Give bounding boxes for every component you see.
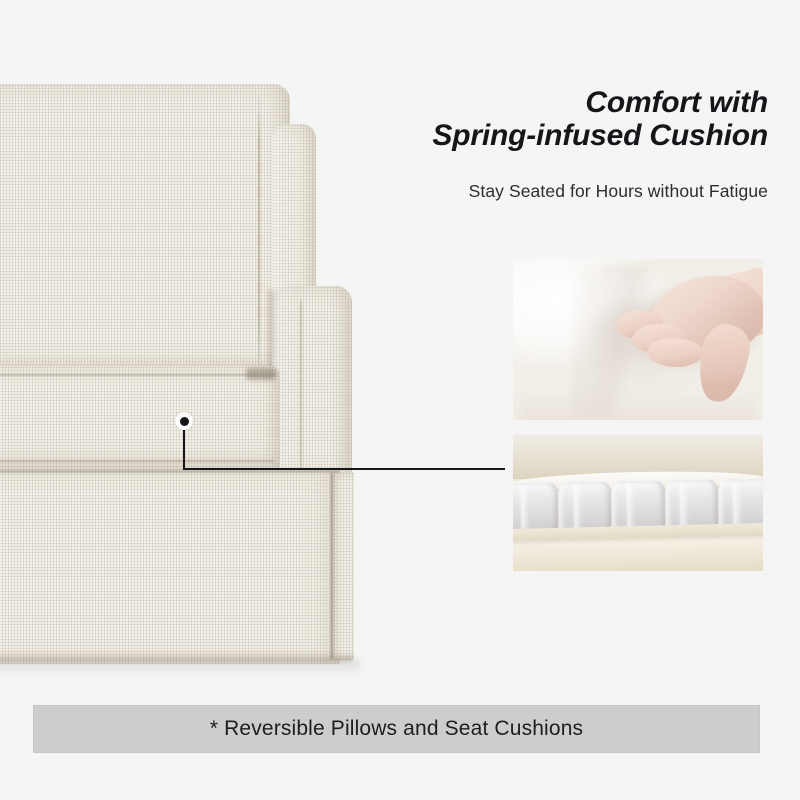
sofa-seat-cushion: [0, 366, 280, 470]
product-feature-banner: Comfort with Spring-infused Cushion Stay…: [0, 0, 800, 800]
foam-press-photo: [513, 259, 763, 420]
callout-line-vertical: [183, 424, 185, 470]
pocket-spring-photo: [513, 435, 763, 571]
sofa-skirt-corner-pleat: [330, 472, 354, 660]
hand: [613, 269, 763, 407]
floor-shadow: [0, 660, 360, 674]
caption-bar: * Reversible Pillows and Seat Cushions: [33, 705, 760, 753]
headline: Comfort with Spring-infused Cushion: [380, 86, 768, 152]
sofa-skirt: [0, 470, 340, 664]
seat-cushion-piping-bottom: [0, 460, 274, 462]
sofa-product-image: [0, 0, 400, 700]
headline-line-1: Comfort with: [585, 86, 768, 119]
pocket-coil: [558, 482, 611, 533]
spring-bottom-foam-layer: [513, 535, 763, 571]
seat-cushion-piping-top: [0, 374, 276, 376]
skirt-top-edge: [0, 470, 340, 473]
back-cushion-seam: [258, 92, 260, 378]
pocket-coil: [611, 481, 664, 532]
callout-marker-dot: [175, 412, 193, 430]
pocket-coil: [513, 483, 558, 534]
sofa-armrest-upper: [272, 124, 316, 304]
armrest-seam: [300, 300, 302, 472]
skirt-pleat-fold-line: [331, 474, 333, 658]
sofa-armrest-lower: [272, 286, 352, 476]
subtitle: Stay Seated for Hours without Fatigue: [360, 180, 768, 202]
foam-front-edge: [518, 388, 758, 420]
headline-line-2: Spring-infused Cushion: [380, 119, 768, 152]
caption-text: * Reversible Pillows and Seat Cushions: [210, 717, 583, 741]
callout-line-horizontal: [183, 468, 505, 470]
sofa-back-cushion: [0, 84, 290, 384]
